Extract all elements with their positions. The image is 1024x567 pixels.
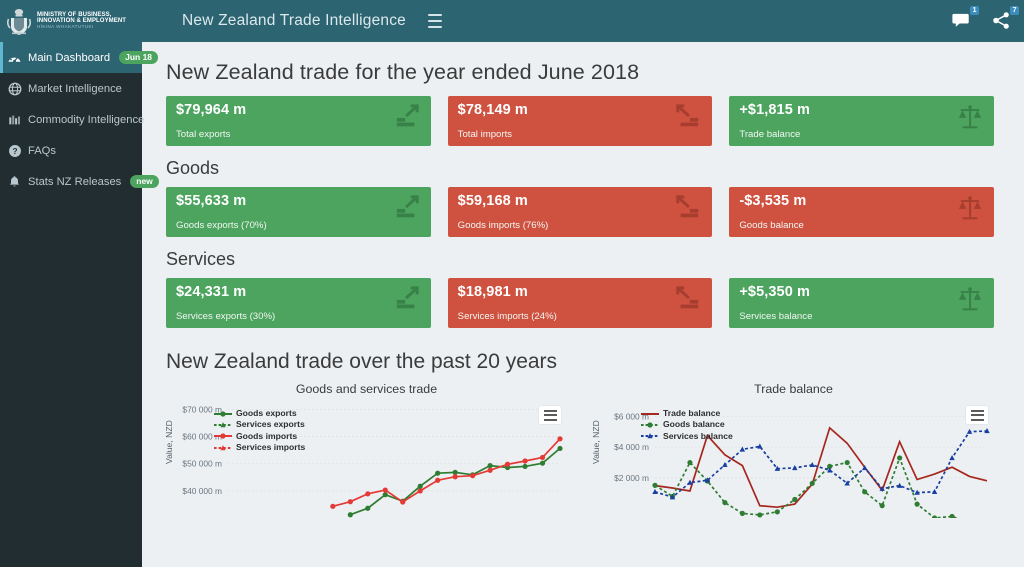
sidebar-badge-new: new [130, 175, 159, 188]
messages-badge: 1 [970, 6, 979, 15]
card-total-imports[interactable]: $78,149 m Total imports [448, 96, 713, 146]
chart-legend: Trade balanceGoods balanceServices balan… [641, 408, 733, 442]
charts-section-title: New Zealand trade over the past 20 years [166, 350, 994, 374]
card-label: Services exports (30%) [176, 311, 275, 322]
sidebar-nav: Main Dashboard Jun 18 Market Intelligenc… [0, 42, 142, 197]
chart-canvas: Value, NZD $40 000 m$50 000 m$60 000 m$7… [166, 400, 567, 518]
chart-ylabel: Value, NZD [591, 420, 601, 464]
cards-row-totals: $79,964 m Total exports $78,149 m Total … [166, 96, 994, 146]
content-area: New Zealand Trade Intelligence 1 [142, 0, 1024, 567]
card-value: $59,168 m [458, 194, 703, 210]
sidebar-item-label: Commodity Intelligence [28, 114, 144, 126]
card-label: Services balance [739, 311, 812, 322]
chart-goods-and-services-trade: Goods and services trade Value, NZD $40 … [166, 382, 567, 522]
legend-key-icon [641, 421, 659, 429]
card-label: Total imports [458, 129, 512, 140]
sidebar-item-label: Market Intelligence [28, 83, 122, 95]
legend-key-icon [641, 432, 659, 440]
svg-text:$4 000 m: $4 000 m [614, 442, 649, 452]
cards-row-goods: $55,633 m Goods exports (70%) $59,168 m … [166, 187, 994, 237]
chart-ylabel: Value, NZD [164, 420, 174, 464]
app-title: New Zealand Trade Intelligence [142, 12, 406, 30]
top-header: New Zealand Trade Intelligence 1 [142, 0, 1024, 42]
chart-title: Trade balance [593, 382, 994, 396]
chart-legend: Goods exportsServices exportsGoods impor… [214, 408, 305, 453]
card-services-exports[interactable]: $24,331 m Services exports (30%) [166, 278, 431, 328]
legend-label: Goods exports [236, 408, 297, 419]
globe-icon [7, 81, 22, 96]
card-value: $24,331 m [176, 285, 421, 301]
card-services-imports[interactable]: $18,981 m Services imports (24%) [448, 278, 713, 328]
chart-context-menu-icon[interactable] [539, 406, 561, 424]
card-total-exports[interactable]: $79,964 m Total exports [166, 96, 431, 146]
card-goods-exports[interactable]: $55,633 m Goods exports (70%) [166, 187, 431, 237]
card-value: +$1,815 m [739, 103, 984, 119]
legend-key-icon [214, 432, 232, 440]
legend-label: Trade balance [663, 408, 720, 419]
sidebar-item-label: FAQs [28, 145, 56, 157]
sidebar-item-label: Main Dashboard [28, 52, 110, 64]
sidebar-item-stats-nz-releases[interactable]: Stats NZ Releases new [0, 166, 142, 197]
legend-key-icon [214, 421, 232, 429]
brand-logo[interactable]: MINISTRY OF BUSINESS, INNOVATION & EMPLO… [0, 0, 142, 42]
card-value: $18,981 m [458, 285, 703, 301]
section-title-goods: Goods [166, 158, 994, 179]
sidebar-badge-date: Jun 18 [119, 51, 158, 64]
sidebar: MINISTRY OF BUSINESS, INNOVATION & EMPLO… [0, 0, 142, 567]
sidebar-item-commodity-intelligence[interactable]: Commodity Intelligence [0, 104, 142, 135]
legend-item[interactable]: Goods exports [214, 408, 305, 419]
header-actions: 1 7 [952, 0, 1012, 42]
sidebar-item-market-intelligence[interactable]: Market Intelligence [0, 73, 142, 104]
svg-text:$2 000 m: $2 000 m [614, 473, 649, 483]
section-title-services: Services [166, 249, 994, 270]
bar-chart-icon [7, 112, 22, 127]
legend-label: Goods balance [663, 419, 725, 430]
card-label: Goods exports (70%) [176, 220, 267, 231]
sidebar-item-label: Stats NZ Releases [28, 176, 121, 188]
legend-item[interactable]: Services exports [214, 419, 305, 430]
card-goods-balance[interactable]: -$3,535 m Goods balance [729, 187, 994, 237]
legend-key-icon [214, 410, 232, 418]
bell-icon [7, 174, 22, 189]
chart-title: Goods and services trade [166, 382, 567, 396]
card-value: $55,633 m [176, 194, 421, 210]
card-label: Goods balance [739, 220, 804, 231]
legend-label: Goods imports [236, 431, 297, 442]
legend-label: Services imports [236, 442, 305, 453]
page-title: New Zealand trade for the year ended Jun… [166, 60, 994, 85]
card-value: +$5,350 m [739, 285, 984, 301]
legend-label: Services exports [236, 419, 305, 430]
svg-text:?: ? [12, 146, 17, 156]
legend-item[interactable]: Trade balance [641, 408, 733, 419]
card-label: Trade balance [739, 129, 800, 140]
card-label: Goods imports (76%) [458, 220, 549, 231]
legend-key-icon [641, 410, 659, 418]
legend-item[interactable]: Services imports [214, 442, 305, 453]
card-label: Total exports [176, 129, 230, 140]
chart-trade-balance: Trade balance Value, NZD $2 000 m$4 000 … [593, 382, 994, 522]
legend-key-icon [214, 444, 232, 452]
hamburger-menu-icon[interactable] [428, 14, 442, 28]
sidebar-item-main-dashboard[interactable]: Main Dashboard Jun 18 [0, 42, 142, 73]
chart-context-menu-icon[interactable] [966, 406, 988, 424]
share-nodes-icon [992, 11, 1011, 30]
nz-coat-of-arms-icon [6, 6, 32, 36]
charts-row: Goods and services trade Value, NZD $40 … [166, 382, 994, 522]
legend-item[interactable]: Services balance [641, 431, 733, 442]
chat-bubble-icon [952, 11, 971, 30]
cards-row-services: $24,331 m Services exports (30%) $18,981… [166, 278, 994, 328]
question-circle-icon: ? [7, 143, 22, 158]
card-value: $78,149 m [458, 103, 703, 119]
card-label: Services imports (24%) [458, 311, 557, 322]
card-trade-balance[interactable]: +$1,815 m Trade balance [729, 96, 994, 146]
legend-item[interactable]: Goods imports [214, 431, 305, 442]
card-value: -$3,535 m [739, 194, 984, 210]
card-value: $79,964 m [176, 103, 421, 119]
legend-item[interactable]: Goods balance [641, 419, 733, 430]
brand-line-3: HĪKINA WHAKATUTUKI [37, 25, 126, 30]
svg-text:$40 000 m: $40 000 m [182, 486, 222, 496]
share-badge: 7 [1010, 6, 1019, 15]
dashboard-app: MINISTRY OF BUSINESS, INNOVATION & EMPLO… [0, 0, 1024, 567]
messages-button[interactable]: 1 [952, 11, 972, 31]
legend-label: Services balance [663, 431, 733, 442]
share-button[interactable]: 7 [992, 11, 1012, 31]
chart-canvas: Value, NZD $2 000 m$4 000 m$6 000 m Trad… [593, 400, 994, 518]
sidebar-item-faqs[interactable]: ? FAQs [0, 135, 142, 166]
main-content: New Zealand trade for the year ended Jun… [142, 42, 1024, 567]
dashboard-gauge-icon [7, 50, 22, 65]
svg-text:$50 000 m: $50 000 m [182, 459, 222, 469]
card-goods-imports[interactable]: $59,168 m Goods imports (76%) [448, 187, 713, 237]
card-services-balance[interactable]: +$5,350 m Services balance [729, 278, 994, 328]
